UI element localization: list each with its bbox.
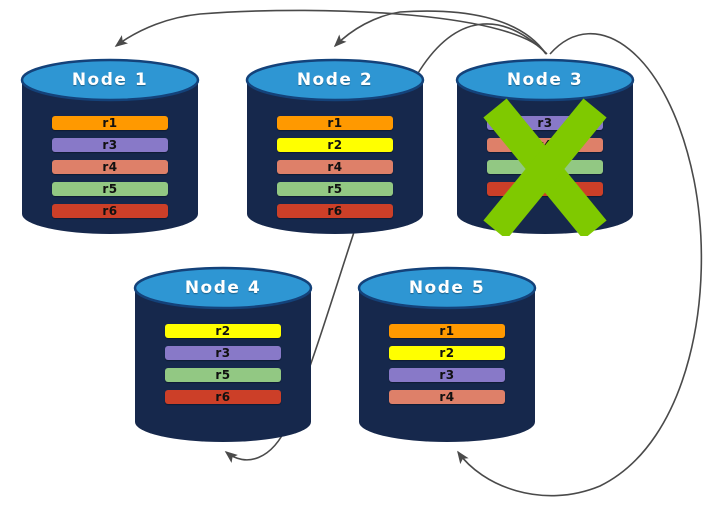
replica-label: r3 (537, 117, 552, 129)
replica-label: r2 (327, 139, 342, 151)
replica-list: r2r3r5r6 (133, 324, 313, 412)
replica-label: r3 (102, 139, 117, 151)
replica-list: r3r4r5r6 (455, 116, 635, 204)
replication-arrow (116, 10, 546, 54)
replica-bar[interactable]: r5 (165, 368, 281, 382)
replica-label: r4 (327, 161, 342, 173)
replica-label: r5 (215, 369, 230, 381)
replica-bar[interactable]: r2 (165, 324, 281, 338)
database-node[interactable]: Node 5r1r2r3r4 (357, 266, 537, 444)
replica-label: r6 (327, 205, 342, 217)
replica-bar[interactable]: r4 (389, 390, 505, 404)
node-title: Node 2 (245, 70, 425, 90)
diagram-canvas: Node 1r1r3r4r5r6Node 2r1r2r4r5r6Node 3r3… (0, 0, 708, 508)
replica-bar[interactable]: r2 (389, 346, 505, 360)
replica-bar[interactable]: r3 (389, 368, 505, 382)
replica-bar[interactable]: r5 (487, 160, 603, 174)
replica-label: r4 (439, 391, 454, 403)
node-title: Node 1 (20, 70, 200, 90)
replica-label: r2 (215, 325, 230, 337)
replica-bar[interactable]: r1 (389, 324, 505, 338)
node-title: Node 4 (133, 278, 313, 298)
replica-label: r6 (102, 205, 117, 217)
replica-bar[interactable]: r1 (52, 116, 168, 130)
replica-label: r1 (327, 117, 342, 129)
database-node[interactable]: Node 4r2r3r5r6 (133, 266, 313, 444)
replica-bar[interactable]: r4 (277, 160, 393, 174)
replica-bar[interactable]: r6 (52, 204, 168, 218)
replica-bar[interactable]: r4 (487, 138, 603, 152)
replica-label: r4 (102, 161, 117, 173)
replica-list: r1r2r3r4 (357, 324, 537, 412)
replica-bar[interactable]: r6 (165, 390, 281, 404)
replication-arrow (335, 11, 546, 54)
replica-bar[interactable]: r4 (52, 160, 168, 174)
replica-bar[interactable]: r3 (487, 116, 603, 130)
database-node[interactable]: Node 2r1r2r4r5r6 (245, 58, 425, 236)
replica-label: r1 (102, 117, 117, 129)
replica-label: r3 (215, 347, 230, 359)
replica-bar[interactable]: r5 (277, 182, 393, 196)
replica-bar[interactable]: r3 (52, 138, 168, 152)
replica-label: r5 (537, 161, 552, 173)
replica-bar[interactable]: r6 (277, 204, 393, 218)
replica-label: r6 (215, 391, 230, 403)
replica-label: r2 (439, 347, 454, 359)
replica-bar[interactable]: r6 (487, 182, 603, 196)
replica-label: r6 (537, 183, 552, 195)
replica-bar[interactable]: r5 (52, 182, 168, 196)
replica-list: r1r3r4r5r6 (20, 116, 200, 226)
database-node[interactable]: Node 1r1r3r4r5r6 (20, 58, 200, 236)
replica-label: r5 (102, 183, 117, 195)
replica-bar[interactable]: r1 (277, 116, 393, 130)
replica-label: r1 (439, 325, 454, 337)
replica-label: r3 (439, 369, 454, 381)
node-title: Node 3 (455, 70, 635, 90)
replica-label: r5 (327, 183, 342, 195)
database-node[interactable]: Node 3r3r4r5r6 (455, 58, 635, 236)
replica-bar[interactable]: r2 (277, 138, 393, 152)
node-title: Node 5 (357, 278, 537, 298)
replica-bar[interactable]: r3 (165, 346, 281, 360)
replica-list: r1r2r4r5r6 (245, 116, 425, 226)
replica-label: r4 (537, 139, 552, 151)
